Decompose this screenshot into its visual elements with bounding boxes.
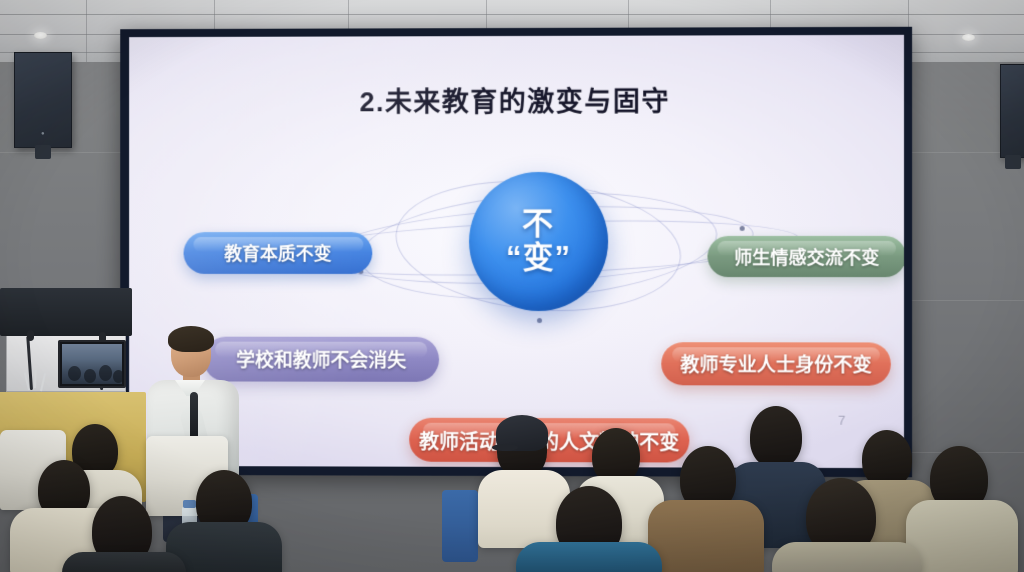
lecture-hall-scene: ● 2.未来教育的激变与固守 不 “变” xyxy=(0,0,1024,572)
speaker-right xyxy=(1000,64,1024,158)
center-label-line2: “变” xyxy=(506,241,571,275)
presentation-slide: 2.未来教育的激变与固守 不 “变” 教育本质不变 师生情感交流 xyxy=(129,35,904,468)
node-red: 教师活动蕴含的人文精神不变 xyxy=(409,418,689,463)
audience-cap-brim xyxy=(492,444,518,451)
audience-body xyxy=(516,542,662,572)
node-purple-label: 学校和教师不会消失 xyxy=(236,346,406,373)
node-green-label: 师生情感交流不变 xyxy=(734,243,879,269)
ceiling-downlight xyxy=(962,34,975,41)
audience-body xyxy=(906,500,1018,572)
node-orange: 教师专业人士身份不变 xyxy=(661,342,891,386)
audience-body xyxy=(62,552,186,572)
center-label-line1: 不 xyxy=(522,208,555,241)
chair-back xyxy=(442,490,478,562)
ceiling-downlight xyxy=(34,32,47,39)
audience-head xyxy=(750,406,802,468)
node-blue: 教育本质不变 xyxy=(184,232,373,274)
speaker-left: ● xyxy=(14,52,72,148)
gooseneck-microphone-head xyxy=(27,330,34,341)
confidence-monitor xyxy=(58,340,126,388)
node-green: 师生情感交流不变 xyxy=(707,236,904,277)
water-bottle-cap xyxy=(183,500,196,508)
podium-equipment-box xyxy=(0,288,132,336)
center-sphere: 不 “变” xyxy=(469,172,608,311)
pen-holder xyxy=(26,370,44,390)
audience-body xyxy=(648,500,764,572)
node-orange-label: 教师专业人士身份不变 xyxy=(680,350,871,377)
node-red-label: 教师活动蕴含的人文精神不变 xyxy=(419,425,679,455)
node-blue-label: 教育本质不变 xyxy=(224,240,331,266)
slide-page-number: 7 xyxy=(838,413,845,428)
audience-body xyxy=(772,542,922,572)
